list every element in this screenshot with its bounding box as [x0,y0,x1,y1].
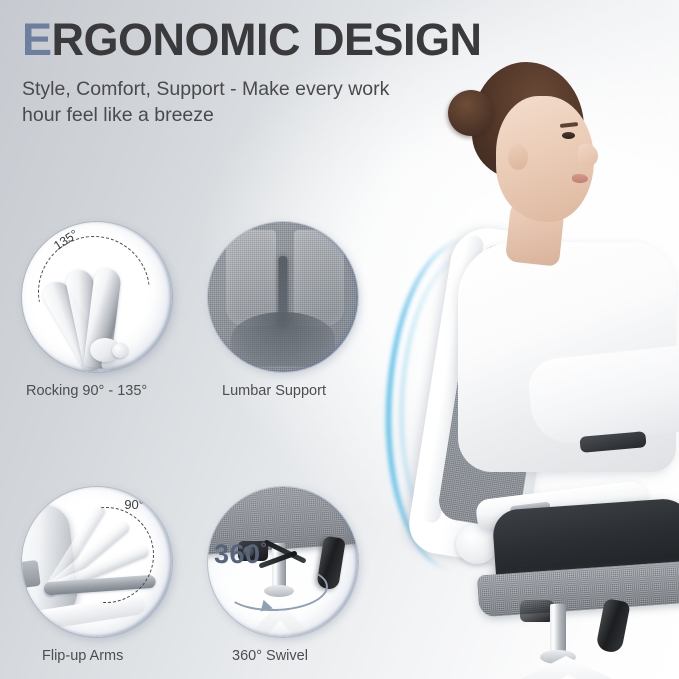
feature-row-top: 135° Rocking 90° - 135° Lumbar Support [22,222,382,399]
feature-grid: 135° Rocking 90° - 135° Lumbar Support [22,222,382,664]
page-subtitle: Style, Comfort, Support - Make every wor… [22,76,422,128]
chair-base-legs [500,656,632,679]
feature-caption-flip-up-arms: Flip-up Arms [22,648,172,664]
chair-gas-cylinder [550,604,566,656]
eye [562,132,575,139]
mesh-back-panel-icon [208,222,358,372]
flip-arm-angle-label: 90° [124,497,144,512]
product-feature-poster: ERGONOMIC DESIGN Style, Comfort, Support… [0,0,679,679]
lumbar-base-shadow [231,312,335,366]
back-panel-right [294,230,344,326]
chair-back-pivot-cover [456,524,498,564]
feature-caption-lumbar: Lumbar Support [208,383,358,399]
seat-mechanism [520,600,554,622]
hair-bun [448,90,494,136]
feature-caption-swivel: 360° Swivel [208,648,358,664]
armrest-pivot-icon: 90° [22,487,172,637]
feature-caption-rocking: Rocking 90° - 135° [22,383,172,399]
rotation-arrow-icon: 360° [208,487,358,637]
back-panel-left [226,230,276,326]
title-lead-letter: E [22,14,52,65]
swivel-degree-label: 360° [214,539,267,570]
ear [508,144,528,170]
chair-tension-knob [112,343,128,358]
rocking-chair-back-icon: 135° [22,222,172,372]
product-photo [372,52,679,679]
lips [572,174,588,183]
feature-row-bottom: 90° Flip-up Arms 360° [22,487,382,664]
feature-flip-up-arms[interactable]: 90° Flip-up Arms [22,487,172,664]
nose [578,144,598,166]
feature-lumbar-support[interactable]: Lumbar Support [208,222,358,399]
feature-rocking[interactable]: 135° Rocking 90° - 135° [22,222,172,399]
swivel-arrow-arc [223,563,329,613]
seated-woman [412,52,672,522]
feature-360-swivel[interactable]: 360° 360° Swivel [208,487,358,664]
